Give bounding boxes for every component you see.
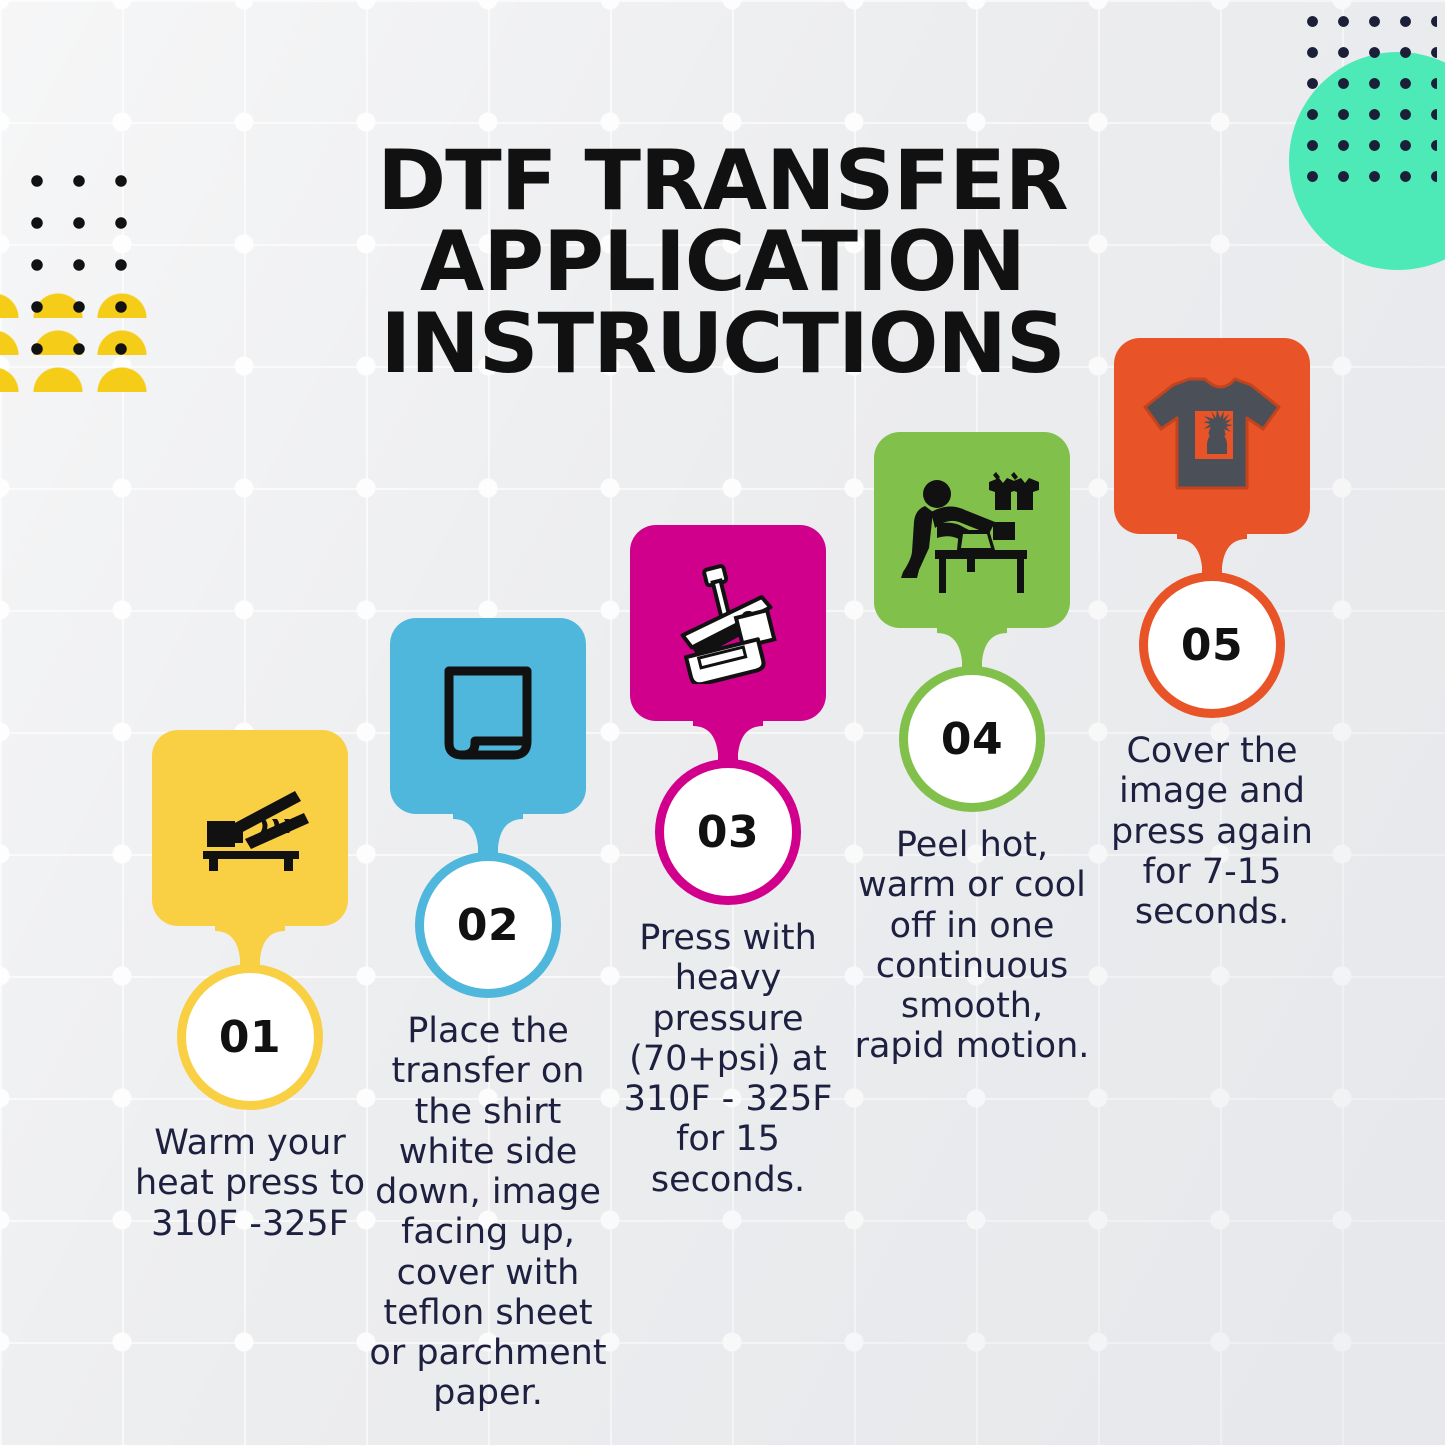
infographic-poster: DTF TRANSFER APPLICATION INSTRUCTIONS	[0, 0, 1445, 1445]
step-number-04: 04	[941, 714, 1003, 765]
step-item-04: 04 Peel hot, warm or cool off in one con…	[852, 432, 1092, 1067]
step-item-03: 03 Press with heavy pressure (70+psi) at…	[608, 525, 848, 1200]
step-number-03: 03	[697, 807, 759, 858]
step-badge-05: 05	[1148, 581, 1276, 709]
step-number-02: 02	[457, 900, 519, 951]
heat-press-machine-icon	[663, 562, 793, 684]
step-number-01: 01	[219, 1012, 281, 1063]
peel-transfer-person-icon	[897, 466, 1047, 594]
heat-press-open-icon	[185, 773, 315, 883]
step-card-04	[874, 432, 1070, 628]
step-badge-03: 03	[664, 768, 792, 896]
step-item-05: 05 Cover the image and press again for 7…	[1092, 338, 1332, 932]
step-caption-03: Press with heavy pressure (70+psi) at 31…	[613, 918, 843, 1200]
step-caption-04: Peel hot, warm or cool off in one contin…	[852, 825, 1092, 1067]
step-caption-05: Cover the image and press again for 7-15…	[1097, 731, 1327, 932]
step-card-01	[152, 730, 348, 926]
step-badge-02: 02	[424, 861, 552, 989]
steps-container: 01 Warm your heat press to 310F -325F	[0, 0, 1445, 1445]
transfer-sheet-icon	[429, 657, 547, 775]
printed-tshirt-icon	[1137, 371, 1287, 501]
step-card-03	[630, 525, 826, 721]
step-badge-01: 01	[186, 973, 314, 1101]
step-card-05	[1114, 338, 1310, 534]
step-item-01: 01 Warm your heat press to 310F -325F	[130, 730, 370, 1244]
step-card-02	[390, 618, 586, 814]
step-caption-02: Place the transfer on the shirt white si…	[368, 1011, 608, 1414]
step-item-02: 02 Place the transfer on the shirt white…	[368, 618, 608, 1414]
step-number-05: 05	[1181, 620, 1243, 671]
step-caption-01: Warm your heat press to 310F -325F	[130, 1123, 370, 1244]
step-badge-04: 04	[908, 675, 1036, 803]
